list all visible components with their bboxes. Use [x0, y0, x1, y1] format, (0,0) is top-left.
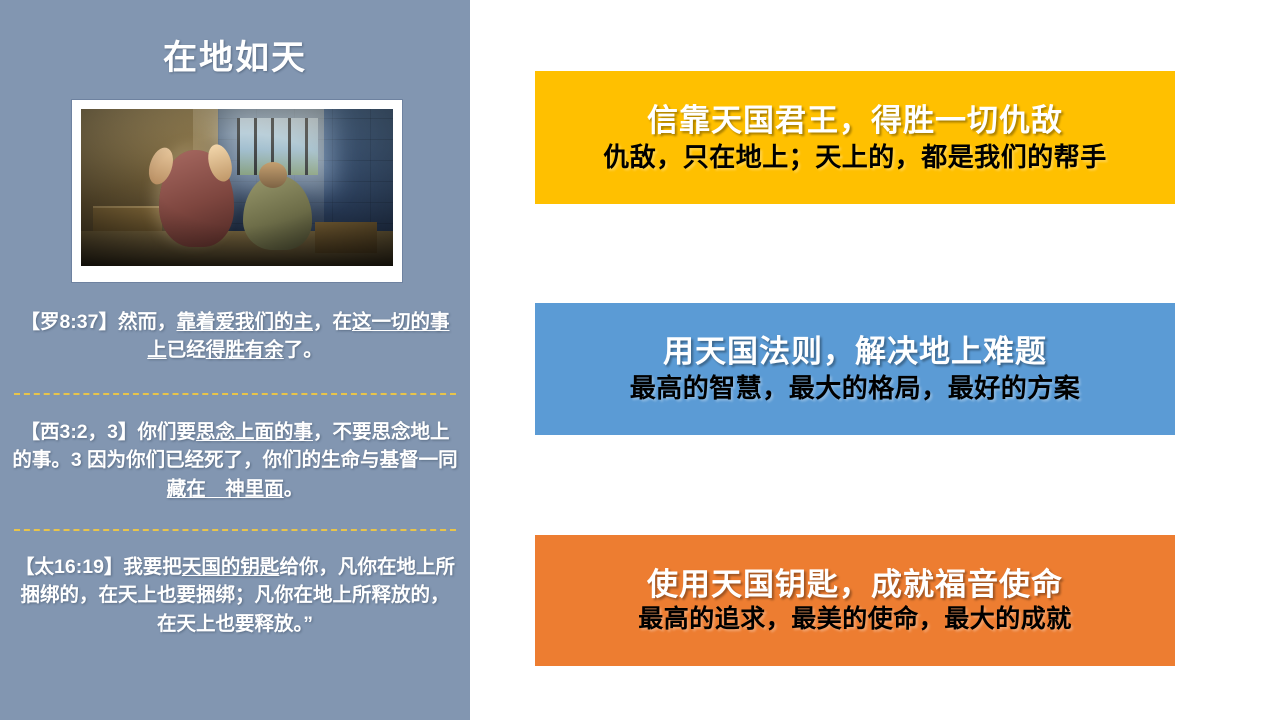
divider-2 — [14, 529, 456, 531]
vignette-decor — [81, 109, 393, 266]
point-panel-1-heading: 信靠天国君王，得胜一切仇敌 — [647, 102, 1063, 141]
point-panel-3[interactable]: 使用天国钥匙，成就福音使命 最高的追求，最美的使命，最大的成就 — [535, 535, 1175, 666]
point-panel-2-subheading: 最高的智慧，最大的格局，最好的方案 — [630, 372, 1081, 405]
sidebar-panel: 在地如天 【罗8:37】然而，靠着爱我们的主，在这一切的事上已经得胜有 — [0, 0, 470, 720]
point-panel-1-subheading: 仇敌，只在地上；天上的，都是我们的帮手 — [603, 141, 1107, 174]
point-panel-3-subheading: 最高的追求，最美的使命，最大的成就 — [638, 604, 1072, 635]
scripture-romans: 【罗8:37】然而，靠着爱我们的主，在这一切的事上已经得胜有余了。 — [12, 308, 458, 365]
scripture-matthew: 【太16:19】我要把天国的钥匙给你，凡你在地上所捆绑的，在天上也要捆绑；凡你在… — [12, 553, 458, 638]
scripture-colossians: 【西3:2，3】你们要思念上面的事，不要思念地上的事。3 因为你们已经死了，你们… — [12, 418, 458, 503]
point-panel-2[interactable]: 用天国法则，解决地上难题 最高的智慧，最大的格局，最好的方案 — [535, 303, 1175, 435]
prison-prayer-image — [81, 109, 393, 266]
point-panel-2-heading: 用天国法则，解决地上难题 — [663, 333, 1047, 372]
illustration-frame — [72, 100, 402, 282]
divider-1 — [14, 393, 456, 395]
presentation-slide: 在地如天 【罗8:37】然而，靠着爱我们的主，在这一切的事上已经得胜有 — [0, 0, 1280, 720]
point-panel-3-heading: 使用天国钥匙，成就福音使命 — [647, 566, 1063, 605]
point-panel-1[interactable]: 信靠天国君王，得胜一切仇敌 仇敌，只在地上；天上的，都是我们的帮手 — [535, 71, 1175, 204]
page-title: 在地如天 — [0, 40, 470, 77]
